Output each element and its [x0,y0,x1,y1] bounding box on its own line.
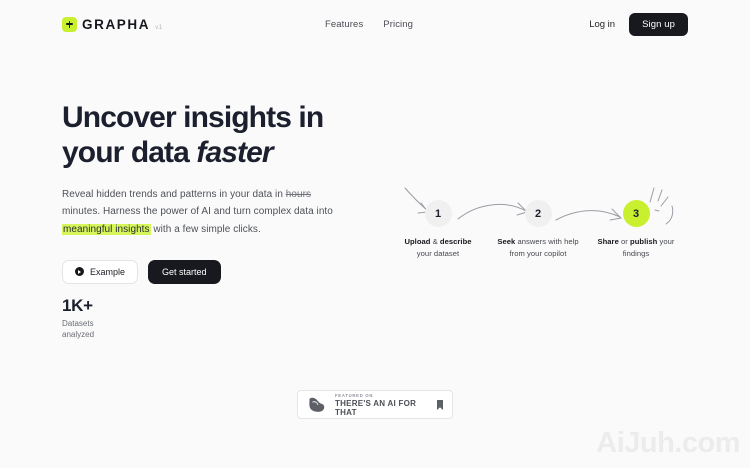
step-1-mid: & [430,237,439,246]
play-circle-icon [75,267,84,276]
headline-line-1: Uncover insights in [62,101,323,134]
headline-emphasis: faster [196,136,272,169]
example-button-label: Example [90,267,125,277]
badge-title: THERE'S AN AI FOR THAT [335,399,429,417]
hero-content: Uncover insights in your data faster Rev… [62,100,392,284]
paragraph-segment-3: with a few simple clicks. [151,224,261,235]
step-2-mid: answers with help [515,237,578,246]
paragraph-strikethrough: hours [286,189,311,200]
brand-logo[interactable]: GRAPHA v1 [62,17,163,32]
badge-text: FEATURED ON THERE'S AN AI FOR THAT [335,393,429,417]
steps-diagram: 1 Upload & describe your dataset 2 Seek … [396,186,696,266]
step-1-bold-1: Upload [404,237,430,246]
headline-line-2-prefix: your data [62,136,196,169]
cta-row: Example Get started [62,260,392,284]
flexed-biceps-icon [307,396,327,413]
step-2-bold-1: Seek [497,237,515,246]
get-started-button[interactable]: Get started [148,260,221,284]
step-3-tail: your [657,237,674,246]
step-3-bold-1: Share [597,237,618,246]
brand-name: GRAPHA [82,18,150,32]
step-1-line-2: your dataset [417,249,459,258]
step-1-bold-2: describe [440,237,472,246]
step-item-1: 1 Upload & describe your dataset [388,186,488,261]
site-header: GRAPHA v1 Features Pricing Log in Sign u… [0,0,750,48]
paragraph-highlight: meaningful insights [62,224,151,235]
stat-label-line-1: Datasets [62,319,94,330]
step-item-3: 3 Share or publish your findings [586,186,686,261]
step-caption-1: Upload & describe your dataset [388,236,488,261]
step-caption-2: Seek answers with help from your copilot [488,236,588,261]
step-2-line-2: from your copilot [510,249,567,258]
stat-block: 1K+ Datasets analyzed [62,296,94,341]
paragraph-segment-1: Reveal hidden trends and patterns in you… [62,189,286,200]
step-number-3: 3 [623,200,650,227]
step-3-mid: or [619,237,630,246]
badge-eyebrow: FEATURED ON [335,393,429,398]
brand-version: v1 [155,24,162,32]
stat-value: 1K+ [62,296,94,316]
step-item-2: 2 Seek answers with help from your copil… [488,186,588,261]
step-caption-3: Share or publish your findings [586,236,686,261]
watermark: AiJuh.com [596,427,740,460]
nav-item-features[interactable]: Features [325,19,363,30]
login-link[interactable]: Log in [589,19,615,30]
page-title: Uncover insights in your data faster [62,100,392,170]
stat-label-line-2: analyzed [62,330,94,341]
paragraph-segment-2: minutes. Harness the power of AI and tur… [62,206,333,217]
signup-button[interactable]: Sign up [629,13,688,36]
featured-badge[interactable]: FEATURED ON THERE'S AN AI FOR THAT [297,390,453,419]
hero-paragraph: Reveal hidden trends and patterns in you… [62,186,345,238]
step-number-1: 1 [425,200,452,227]
example-button[interactable]: Example [62,260,138,284]
landing-page: GRAPHA v1 Features Pricing Log in Sign u… [0,0,750,468]
main-nav: Features Pricing [325,19,413,30]
auth-actions: Log in Sign up [589,13,688,36]
nav-item-pricing[interactable]: Pricing [383,19,413,30]
step-3-line-2: findings [623,249,650,258]
plus-square-icon [62,17,77,32]
bookmark-icon [437,400,443,410]
step-number-2: 2 [525,200,552,227]
step-3-bold-2: publish [630,237,657,246]
